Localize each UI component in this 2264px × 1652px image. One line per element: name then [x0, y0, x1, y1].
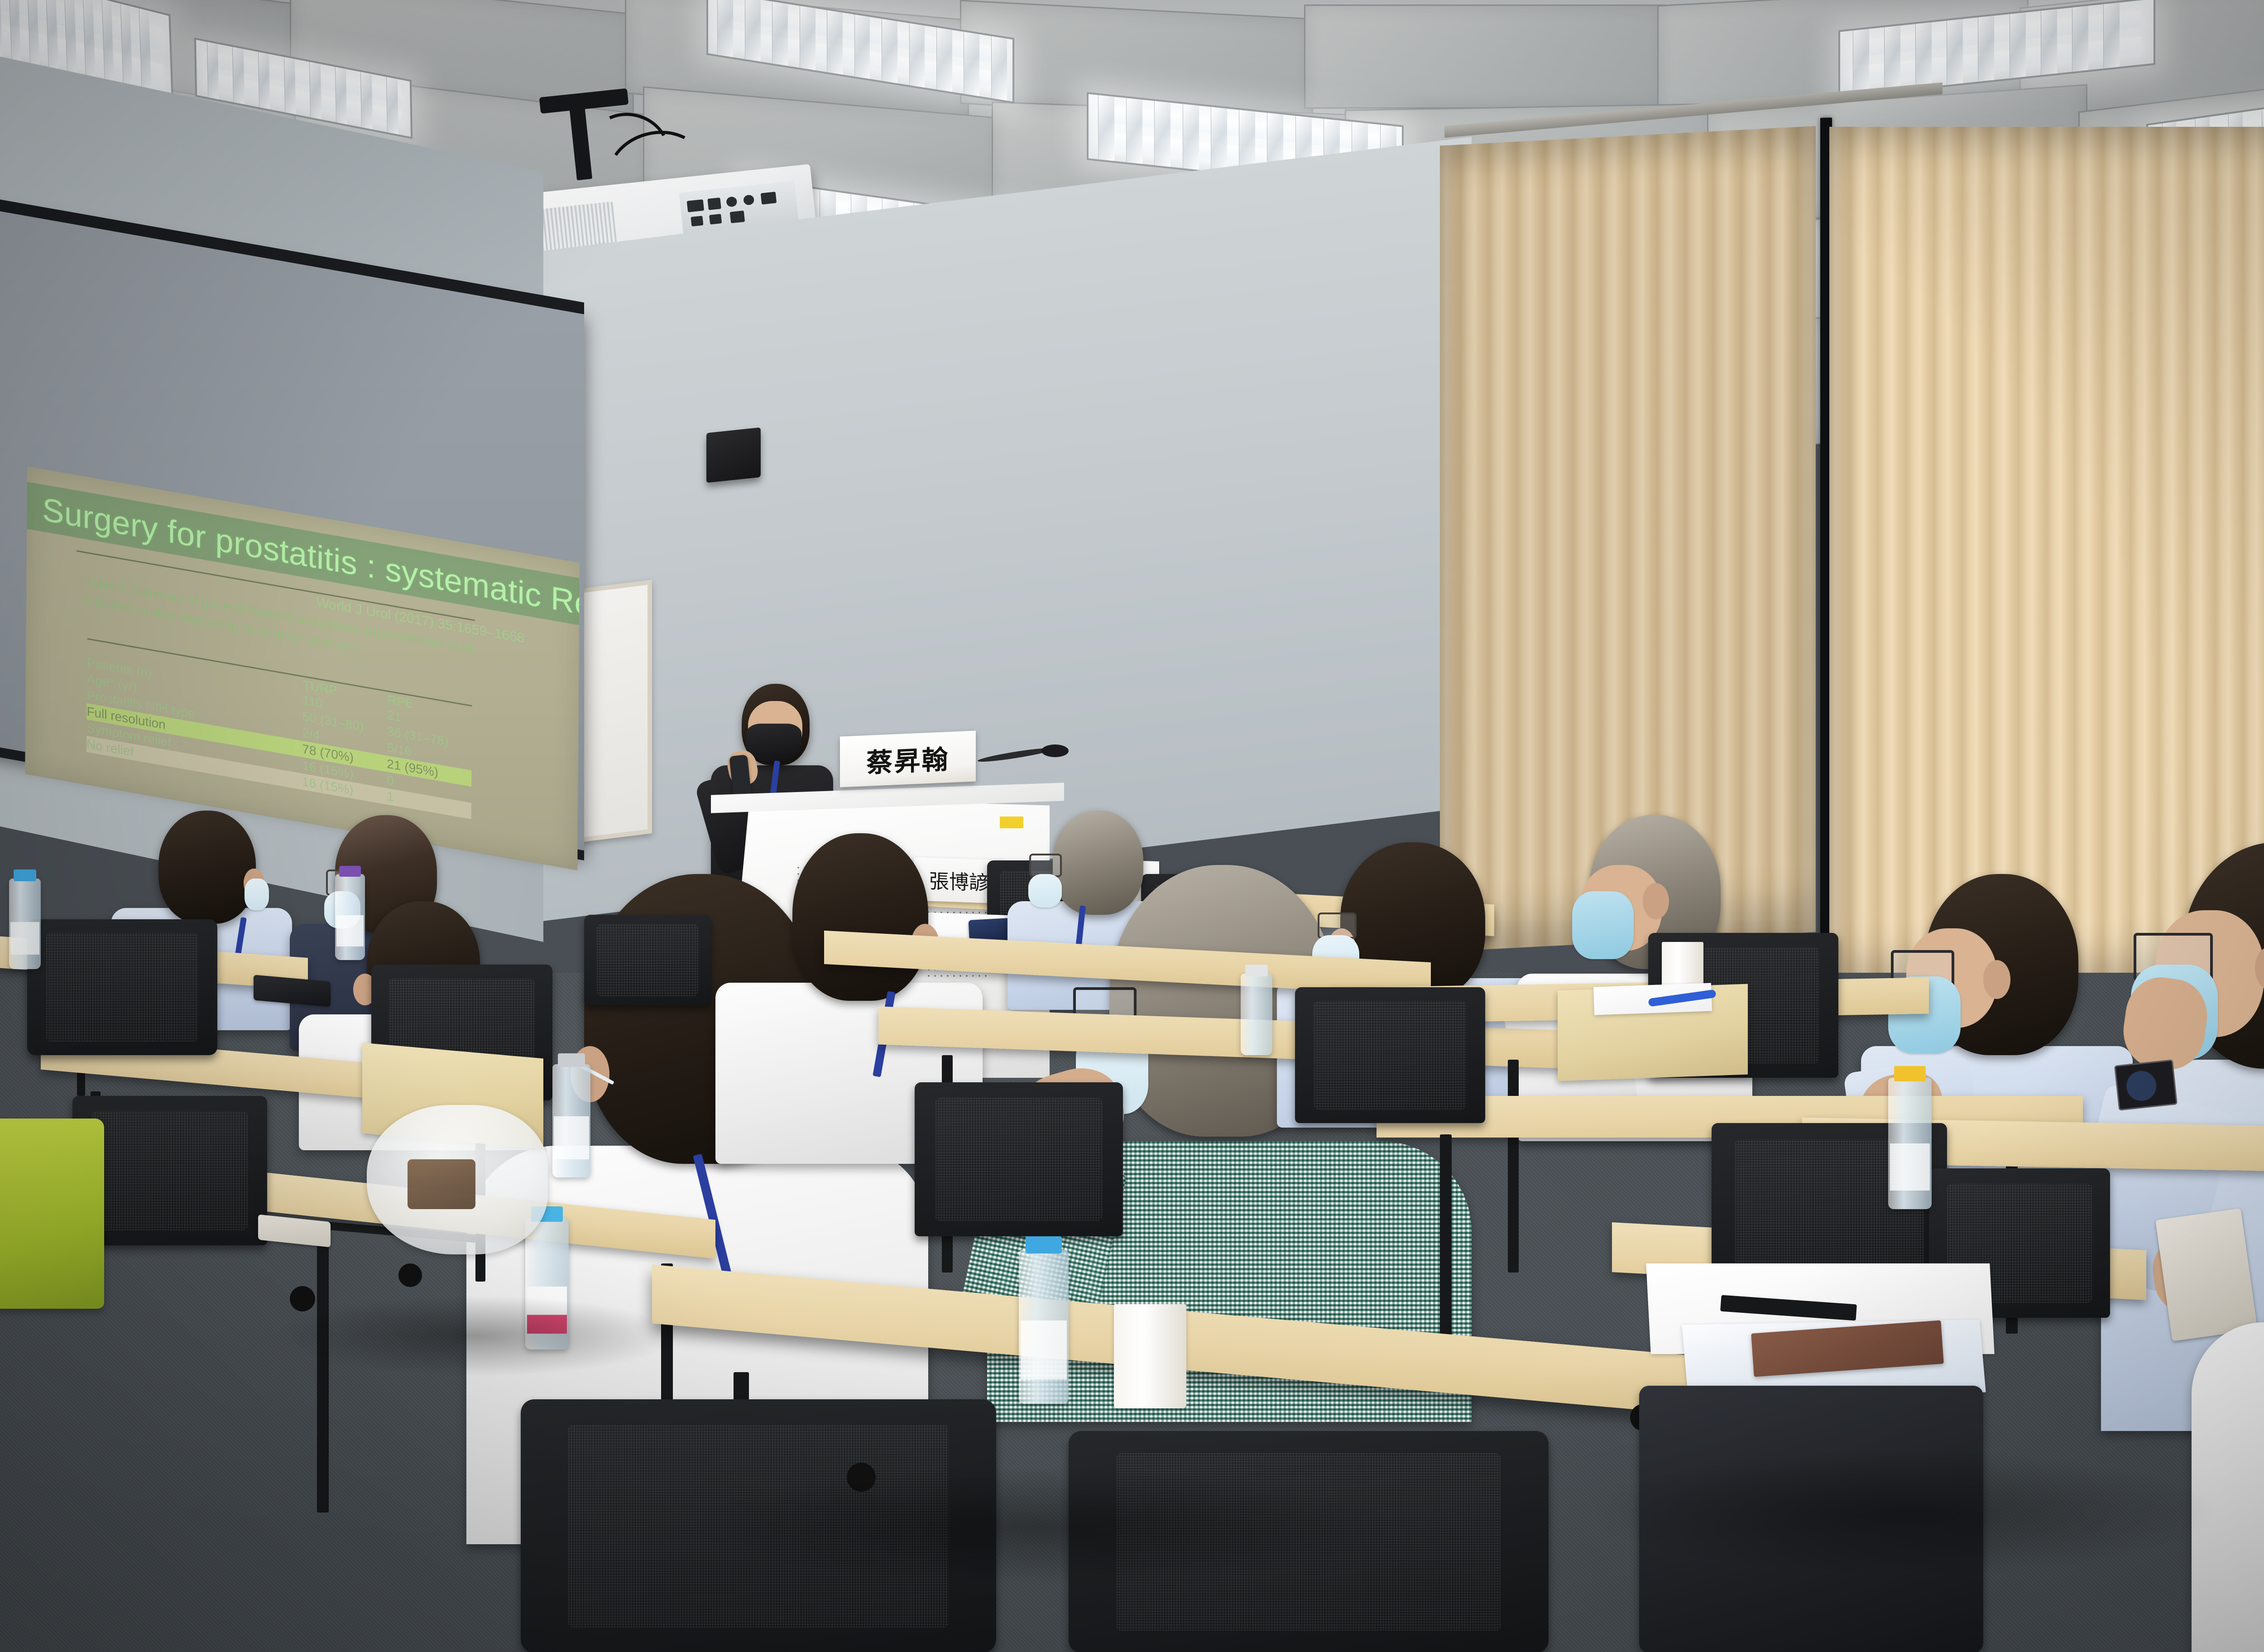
water-bottle — [9, 879, 41, 969]
water-bottle — [335, 874, 365, 960]
bottle-cap — [1245, 965, 1268, 976]
bottle-cap — [558, 1053, 585, 1067]
office-chair — [27, 919, 217, 1055]
attendee-ear — [1983, 960, 2010, 999]
gooseneck-microphone-head — [1041, 744, 1069, 757]
slide-data-table: TURP RPE Patients (n) 110 21 Age* (yr) 5… — [86, 640, 472, 819]
conference-room-photo: Surgery for prostatitis : systematic Rev… — [0, 0, 2264, 1652]
green-tote-bag — [0, 1119, 104, 1309]
bottle-cap — [1026, 1236, 1061, 1253]
water-bottle — [552, 1064, 590, 1177]
office-chair — [1295, 987, 1485, 1123]
attendee-head — [158, 811, 256, 924]
wall-speaker — [706, 427, 761, 483]
bottle-cap — [1894, 1066, 1925, 1081]
speaker-face-mask — [746, 724, 801, 763]
speaker-nameplate: 蔡昇翰 — [840, 730, 976, 787]
office-chair — [915, 1082, 1123, 1236]
speaker-nameplate-text: 蔡昇翰 — [866, 738, 949, 780]
chair-caster — [290, 1286, 315, 1311]
attendee-torso — [2192, 1322, 2264, 1652]
attendee-head — [792, 833, 928, 1001]
water-bottle — [1019, 1250, 1069, 1404]
bottle-cap — [339, 866, 361, 877]
whiteboard — [580, 580, 652, 842]
attendee-ear — [1643, 883, 1669, 919]
water-bottle — [1888, 1078, 1932, 1209]
attendee-13 — [2192, 1259, 2264, 1652]
water-bottle — [1241, 974, 1272, 1055]
ceiling-tile — [1304, 5, 1666, 109]
chair-caster — [398, 1263, 422, 1287]
office-chair — [584, 915, 711, 1005]
smartwatch — [2114, 1059, 2178, 1110]
paper-cup — [1114, 1304, 1186, 1408]
bottle-cap — [14, 869, 36, 881]
food-item-in-bag — [408, 1159, 475, 1209]
face-mask — [245, 879, 269, 910]
face-mask — [1572, 891, 1634, 959]
